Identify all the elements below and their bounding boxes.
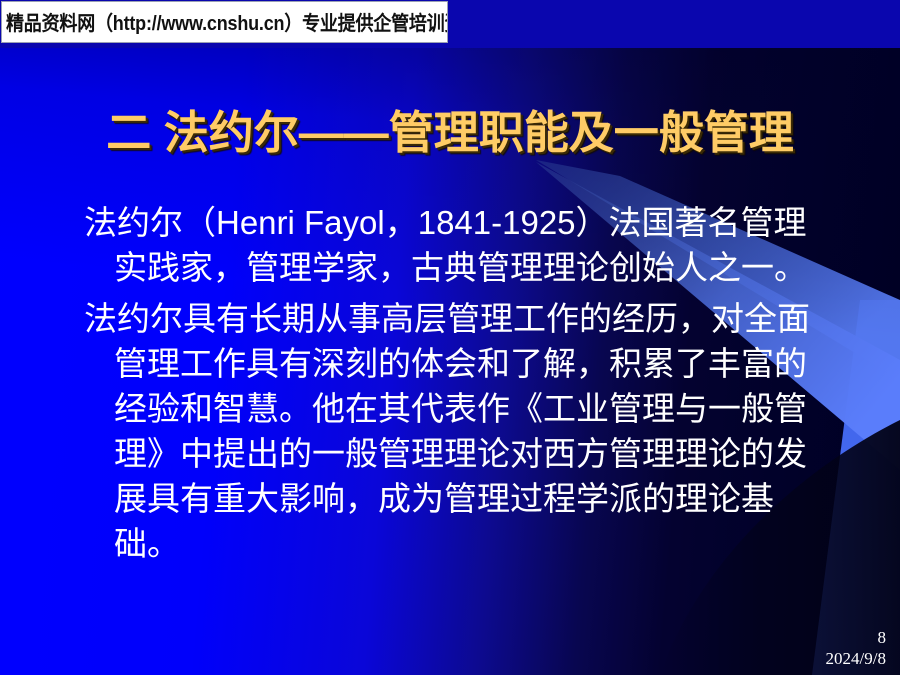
slide-date: 2024/9/8 — [826, 648, 886, 669]
slide-body: 法约尔（Henri Fayol，1841-1925）法国著名管理实践家，管理学家… — [84, 200, 832, 572]
slide-footer: 8 2024/9/8 — [826, 627, 886, 669]
site-banner-text: 精品资料网（http://www.cnshu.cn）专业提供企管培训资料 — [2, 7, 448, 36]
paragraph-rest: 对全面管理工作具有深刻的体会和了解，积累了丰富的经验和智慧。他在其代表作《工业管… — [114, 300, 810, 562]
site-banner: 精品资料网（http://www.cnshu.cn）专业提供企管培训资料 — [1, 1, 448, 43]
paragraph-lead: 法约尔（Henri Fayol，1841-1925）法国 — [84, 204, 675, 241]
page-number: 8 — [826, 627, 886, 648]
body-paragraph: 法约尔（Henri Fayol，1841-1925）法国著名管理实践家，管理学家… — [84, 200, 832, 290]
banner-strip: 精品资料网（http://www.cnshu.cn）专业提供企管培训资料 — [0, 0, 900, 48]
body-paragraph: 法约尔具有长期从事高层管理工作的经历，对全面管理工作具有深刻的体会和了解，积累了… — [84, 296, 832, 566]
slide-title: 二 法约尔——管理职能及一般管理 — [0, 96, 900, 161]
paragraph-lead: 法约尔具有长期从事高层管理工作的经历， — [84, 300, 711, 337]
presentation-slide: 精品资料网（http://www.cnshu.cn）专业提供企管培训资料 二 法… — [0, 0, 900, 675]
